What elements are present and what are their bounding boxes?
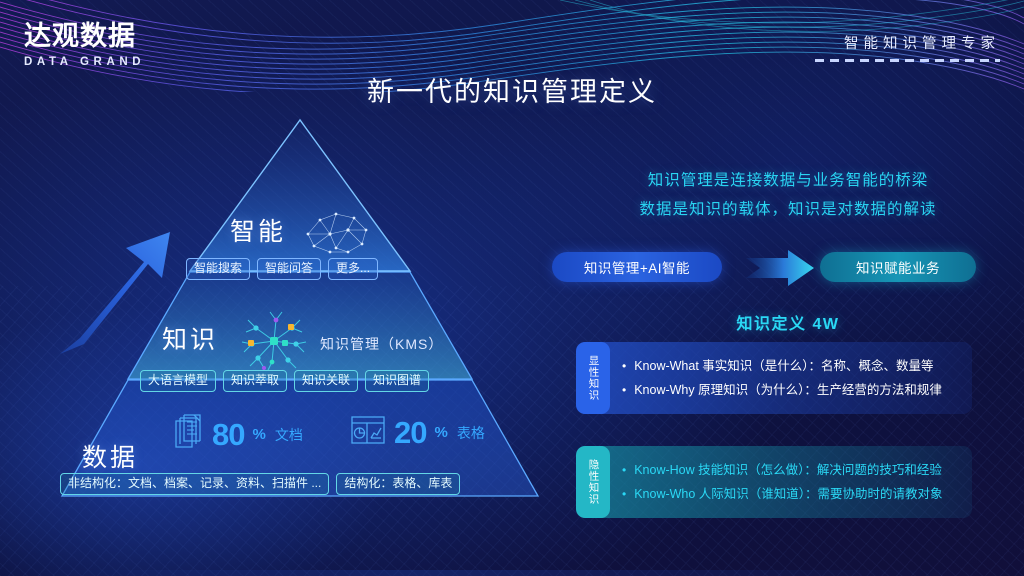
lead-statement: 知识管理是连接数据与业务智能的桥梁 数据是知识的载体，知识是对数据的解读 [578,166,998,224]
list-item: • Know-Why 原理知识（为什么）：生产经营的方法和规律 [622,382,960,398]
lead-line-1: 知识管理是连接数据与业务智能的桥梁 [578,166,998,195]
flow-arrow-icon [744,248,816,288]
tag-llm[interactable]: 大语言模型 [140,370,216,392]
documents-icon [174,414,204,455]
stat-documents-value: 80 [212,419,244,450]
tier-tags-knowledge: 大语言模型 知识萃取 知识关联 知识图谱 [140,370,429,392]
brain-network-icon [300,204,374,265]
lead-line-2: 数据是知识的载体，知识是对数据的解读 [578,195,998,224]
stat-documents: 80 % 文档 [174,414,303,455]
kms-caption: 知识管理（KMS） [320,334,443,354]
explicit-knowledge-list: • Know-What 事实知识（是什么）：名称、概念、数量等 • Know-W… [610,342,972,414]
logo-title-en: DATA GRAND [24,56,145,68]
explicit-knowledge-box: 显性知识 • Know-What 事实知识（是什么）：名称、概念、数量等 • K… [576,342,972,414]
tag-knowledge-extraction[interactable]: 知识萃取 [223,370,287,392]
tag-intelligent-search[interactable]: 智能搜索 [186,258,250,280]
explicit-item-2: Know-Why 原理知识（为什么）：生产经营的方法和规律 [634,382,942,398]
explicit-item-1: Know-What 事实知识（是什么）：名称、概念、数量等 [634,358,933,374]
pill-knowledge-ai[interactable]: 知识管理+AI智能 [552,252,722,282]
header-tagline: 智能知识管理专家 [815,32,1000,62]
tacit-item-2: Know-Who 人际知识（谁知道）：需要协助时的请教对象 [634,486,942,502]
tag-structured[interactable]: 结构化：表格、库表 [336,473,460,495]
tacit-knowledge-box: 隐性知识 • Know-How 技能知识（怎么做）：解决问题的技巧和经验 • K… [576,446,972,518]
stat-tables-percent: % [434,424,447,441]
tag-more[interactable]: 更多... [328,258,378,280]
explicit-knowledge-tab: 显性知识 [576,342,610,414]
tacit-knowledge-list: • Know-How 技能知识（怎么做）：解决问题的技巧和经验 • Know-W… [610,446,972,518]
tier-tags-data: 非结构化：文档、档案、记录、资料、扫描件 ... 结构化：表格、库表 [60,473,460,495]
bullet-icon: • [622,462,626,478]
tacit-item-1: Know-How 技能知识（怎么做）：解决问题的技巧和经验 [634,462,942,478]
four-w-title: 知识定义 4W [578,310,998,334]
header-tagline-underline [815,59,1000,62]
pill-knowledge-empower[interactable]: 知识赋能业务 [820,252,976,282]
growth-arrow-icon [58,226,176,356]
tier-label-intelligence: 智能 [230,212,286,248]
tier-label-data: 数据 [82,438,138,474]
list-item: • Know-What 事实知识（是什么）：名称、概念、数量等 [622,358,960,374]
table-chart-icon [350,414,386,451]
tag-knowledge-graph[interactable]: 知识图谱 [365,370,429,392]
bullet-icon: • [622,358,626,374]
list-item: • Know-How 技能知识（怎么做）：解决问题的技巧和经验 [622,462,960,478]
tier-tags-intelligence: 智能搜索 智能问答 更多... [186,258,378,280]
slide-root: 达观数据 DATA GRAND 智能知识管理专家 新一代的知识管理定义 [0,0,1024,576]
bottom-glow-bar [0,570,1024,576]
stat-tables: 20 % 表格 [350,414,485,451]
tag-intelligent-qa[interactable]: 智能问答 [257,258,321,280]
transform-flow: 知识管理+AI智能 知识赋能业务 [552,252,976,286]
tag-unstructured[interactable]: 非结构化：文档、档案、记录、资料、扫描件 ... [60,473,329,495]
stat-tables-value: 20 [394,417,426,448]
tacit-knowledge-tab: 隐性知识 [576,446,610,518]
stat-documents-percent: % [252,426,265,443]
bullet-icon: • [622,382,626,398]
logo: 达观数据 DATA GRAND [24,22,145,68]
stat-documents-label: 文档 [275,425,303,445]
list-item: • Know-Who 人际知识（谁知道）：需要协助时的请教对象 [622,486,960,502]
tier-label-knowledge: 知识 [162,320,218,356]
bullet-icon: • [622,486,626,502]
stat-tables-label: 表格 [457,423,485,443]
page-title: 新一代的知识管理定义 [0,70,1024,109]
knowledge-graph-icon [238,310,310,377]
header-tagline-text: 智能知识管理专家 [815,32,1000,53]
tag-knowledge-linking[interactable]: 知识关联 [294,370,358,392]
logo-title-cn: 达观数据 [24,22,145,52]
knowledge-pyramid: 智能 知识 数据 [40,118,560,508]
